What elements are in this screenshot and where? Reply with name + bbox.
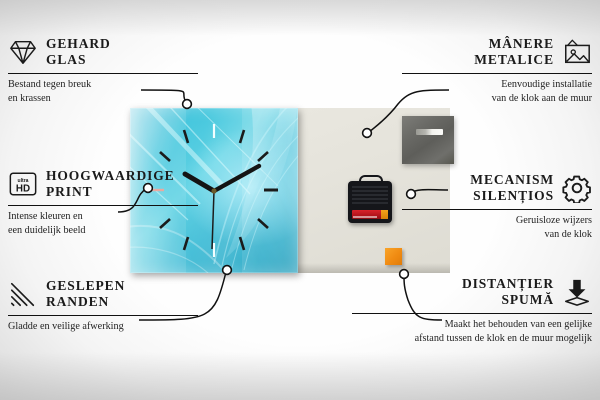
feature-foam-spacer: DISTANȚIER SPUMĂ Maakt het behouden van … [352, 276, 592, 345]
feature-title: GEHARD GLAS [46, 36, 111, 69]
movement-hanger-loop [359, 175, 383, 186]
metal-hanger-plate [402, 116, 454, 164]
feature-silent-mechanism: MECANISM SILENȚIOS Geruisloze wijzers va… [402, 172, 592, 241]
feature-high-quality-print: ultra HD HOOGWAARDIGE PRINT Intense kleu… [8, 168, 198, 237]
feature-divider [402, 73, 592, 74]
hanger-slot [416, 129, 443, 135]
feature-title: DISTANȚIER SPUMĂ [462, 276, 554, 309]
feature-divider [8, 205, 198, 206]
gear-icon [562, 173, 592, 203]
infographic-canvas: GEHARD GLAS Bestand tegen breuk en krass… [0, 0, 600, 400]
feature-header: ultra HD HOOGWAARDIGE PRINT [8, 168, 198, 201]
svg-text:HD: HD [16, 184, 30, 195]
ultra-hd-icon: ultra HD [8, 169, 38, 199]
battery-label [353, 216, 377, 218]
feature-title: HOOGWAARDIGE PRINT [46, 168, 175, 201]
feature-description: Geruisloze wijzers van de klok [402, 214, 592, 241]
feature-description: Intense kleuren en een duidelijk beeld [8, 210, 198, 237]
feature-metal-handles: MÂNERE METALICE Eenvoudige installatie v… [402, 36, 592, 105]
feature-title: MÂNERE METALICE [474, 36, 554, 69]
down-arrow-pad-icon [562, 277, 592, 307]
feature-description: Gladde en veilige afwerking [8, 320, 198, 333]
clock-movement [348, 181, 392, 223]
feature-polished-edges: GESLEPEN RANDEN Gladde en veilige afwerk… [8, 278, 198, 334]
foam-spacer [385, 248, 402, 265]
feature-header: MECANISM SILENȚIOS [402, 172, 592, 205]
feature-divider [352, 313, 592, 314]
feature-header: GESLEPEN RANDEN [8, 278, 198, 311]
movement-label-grid [352, 186, 388, 205]
feature-header: DISTANȚIER SPUMĂ [352, 276, 592, 309]
feature-tempered-glass: GEHARD GLAS Bestand tegen breuk en krass… [8, 36, 198, 105]
feature-divider [8, 315, 198, 316]
feature-title: MECANISM SILENȚIOS [470, 172, 554, 205]
diagonal-lines-icon [8, 279, 38, 309]
feature-title: GESLEPEN RANDEN [46, 278, 125, 311]
picture-frame-icon [562, 37, 592, 67]
feature-description: Maakt het behouden van een gelijke afsta… [352, 318, 592, 345]
feature-divider [402, 209, 592, 210]
feature-description: Eenvoudige installatie van de klok aan d… [402, 78, 592, 105]
feature-divider [8, 73, 198, 74]
feature-header: GEHARD GLAS [8, 36, 198, 69]
battery-plus-terminal [381, 210, 388, 219]
diamond-icon [8, 37, 38, 67]
feature-header: MÂNERE METALICE [402, 36, 592, 69]
feature-description: Bestand tegen breuk en krassen [8, 78, 198, 105]
